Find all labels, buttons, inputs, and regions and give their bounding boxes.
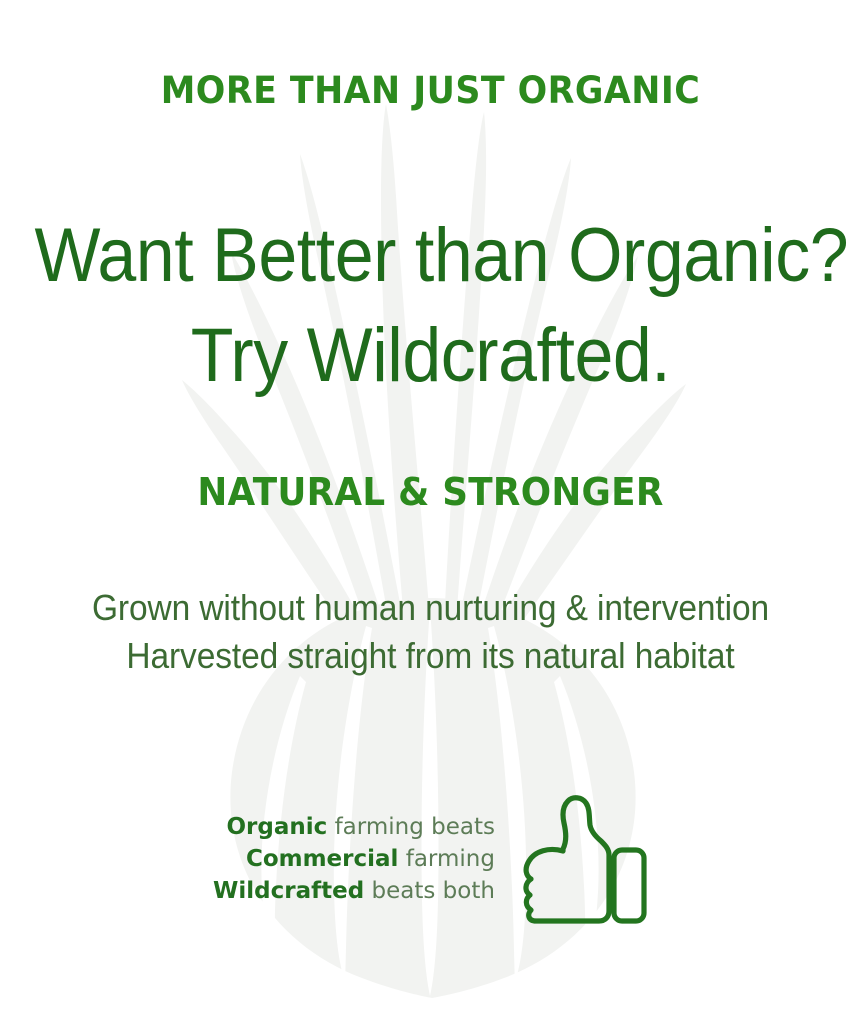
eyebrow-heading: MORE THAN JUST ORGANIC xyxy=(26,69,835,113)
claim-keyword-organic: Organic xyxy=(226,814,327,840)
claim-rest-organic: farming beats xyxy=(327,814,495,840)
claim-block: Organic farming beats Commercial farming… xyxy=(0,793,861,925)
claim-text-lines: Organic farming beats Commercial farming… xyxy=(213,811,495,907)
claim-line-commercial: Commercial farming xyxy=(213,843,495,875)
headline-line-1: Want Better than Organic? xyxy=(34,206,826,306)
claim-rest-wildcrafted: beats both xyxy=(364,878,495,904)
claim-line-wildcrafted: Wildcrafted beats both xyxy=(213,875,495,907)
claim-line-organic: Organic farming beats xyxy=(213,811,495,843)
body-copy: Grown without human nurturing & interven… xyxy=(30,584,831,680)
subheading: NATURAL & STRONGER xyxy=(26,469,835,515)
claim-keyword-wildcrafted: Wildcrafted xyxy=(213,878,364,904)
thumbs-up-icon xyxy=(513,793,648,925)
main-headline: Want Better than Organic? Try Wildcrafte… xyxy=(34,206,826,406)
poster-content: MORE THAN JUST ORGANIC Want Better than … xyxy=(0,0,861,1024)
poster-canvas: MORE THAN JUST ORGANIC Want Better than … xyxy=(0,0,861,1024)
headline-line-2: Try Wildcrafted. xyxy=(34,306,826,406)
claim-keyword-commercial: Commercial xyxy=(246,846,398,872)
claim-rest-commercial: farming xyxy=(398,846,495,872)
body-copy-line-2: Harvested straight from its natural habi… xyxy=(30,632,831,680)
body-copy-line-1: Grown without human nurturing & interven… xyxy=(30,584,831,632)
